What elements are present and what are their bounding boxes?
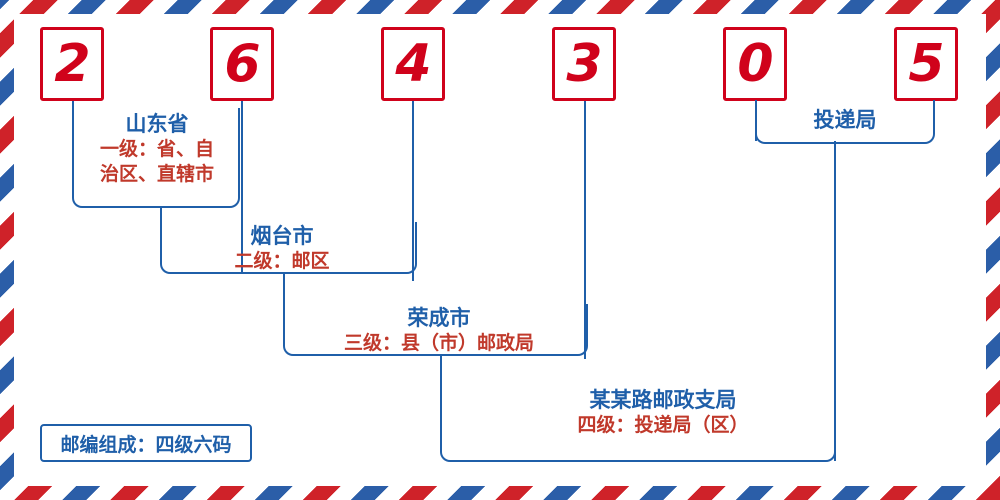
label-delivery-title: 投递局 (756, 108, 934, 134)
connector-county-stem (412, 101, 414, 281)
postcode-digit-1: 2 (40, 27, 104, 101)
connector-delivery-drop (834, 141, 836, 461)
digit-glyph: 6 (213, 30, 271, 98)
label-province-title: 山东省 (76, 112, 238, 138)
digit-glyph: 4 (384, 30, 442, 98)
postcode-digit-6: 5 (894, 27, 958, 101)
label-county-sub: 三级：县（市）邮政局 (307, 332, 571, 357)
label-city-title: 烟台市 (182, 224, 382, 250)
label-delivery: 投递局 (756, 108, 934, 134)
postcode-digit-5: 0 (723, 27, 787, 101)
label-city: 烟台市 二级：邮区 (182, 224, 382, 275)
label-county-title: 荣成市 (307, 306, 571, 332)
digit-glyph: 2 (43, 30, 101, 98)
label-province-sub-line1: 一级：省、自 (76, 138, 238, 163)
postcode-diagram: 2 6 4 3 0 5 山东省 一级：省、自 治区、直辖市 烟台市 二级：邮区 (0, 0, 1000, 500)
postcode-digit-3: 4 (381, 27, 445, 101)
label-province-sub-line2: 治区、直辖市 (76, 163, 238, 188)
label-county: 荣成市 三级：县（市）邮政局 (307, 306, 571, 357)
label-branch-sub: 四级：投递局（区） (505, 414, 821, 439)
postcode-digit-4: 3 (552, 27, 616, 101)
postcode-digit-2: 6 (210, 27, 274, 101)
label-branch: 某某路邮政支局 四级：投递局（区） (505, 388, 821, 439)
label-city-sub: 二级：邮区 (182, 250, 382, 275)
postcode-composition-note: 邮编组成：四级六码 (40, 424, 252, 462)
digit-glyph: 3 (555, 30, 613, 98)
digit-glyph: 5 (897, 30, 955, 98)
connector-branch-stem (584, 101, 586, 359)
label-province: 山东省 一级：省、自 治区、直辖市 (76, 112, 238, 188)
label-branch-title: 某某路邮政支局 (505, 388, 821, 414)
digit-glyph: 0 (726, 30, 784, 98)
